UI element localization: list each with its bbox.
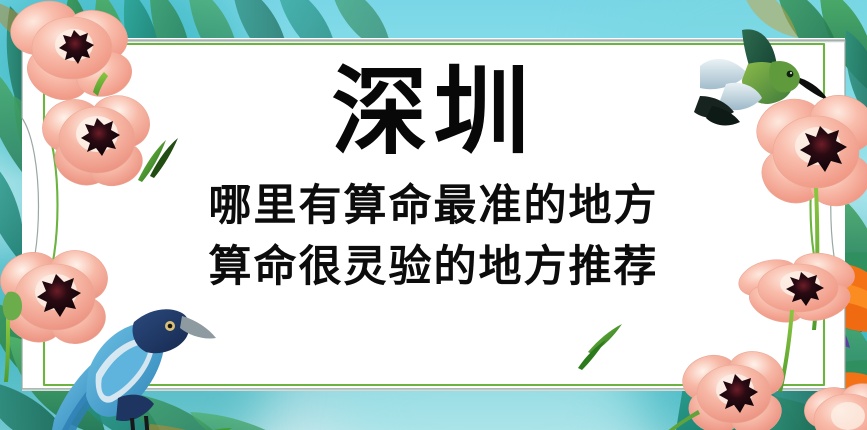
white-content-card	[22, 38, 845, 391]
flower-bud-bottom-left	[3, 292, 22, 321]
magpie-leg-1	[130, 418, 136, 430]
magpie-leg-2	[144, 416, 150, 430]
flower-stem-br-lower	[666, 410, 700, 430]
promo-banner: 深圳 哪里有算命最准的地方 算命很灵验的地方推荐	[0, 0, 867, 430]
magpie-underside	[116, 395, 154, 421]
flower-bud-stem	[4, 320, 10, 382]
